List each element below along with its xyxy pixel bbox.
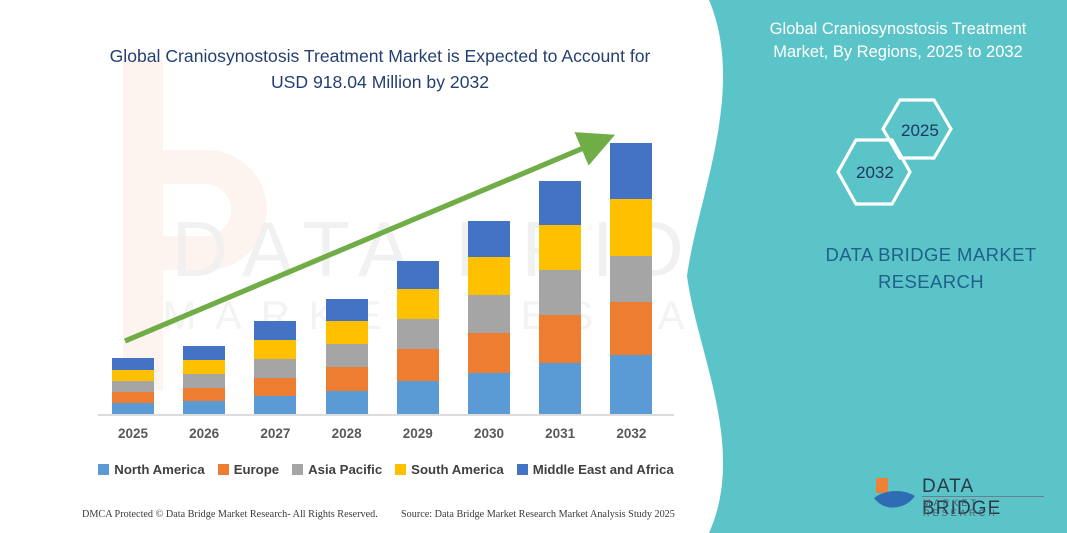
bar-segment-south-america [254, 340, 296, 359]
bar-segment-asia-pacific [539, 270, 581, 315]
bar-segment-north-america [468, 373, 510, 415]
bar-segment-middle-east-and-africa [397, 261, 439, 289]
bar-2030[interactable] [468, 221, 510, 415]
hexagon-group: 2025 2032 [830, 96, 980, 212]
bar-segment-south-america [468, 257, 510, 295]
legend-item-middle-east-and-africa[interactable]: Middle East and Africa [517, 462, 674, 477]
hexagon-2032-label: 2032 [856, 163, 894, 183]
bars-plot [96, 120, 672, 415]
bar-segment-south-america [539, 225, 581, 270]
bar-2025[interactable] [112, 358, 154, 415]
bar-2027[interactable] [254, 321, 296, 415]
x-axis-label-2030: 2030 [459, 426, 519, 441]
bar-segment-europe [610, 302, 652, 355]
bar-segment-asia-pacific [183, 374, 225, 388]
footer-copyright: DMCA Protected © Data Bridge Market Rese… [82, 509, 378, 520]
bar-segment-europe [326, 367, 368, 391]
x-axis-labels: 20252026202720282029203020312032 [96, 426, 676, 448]
x-axis-label-2032: 2032 [601, 426, 661, 441]
bar-segment-south-america [326, 321, 368, 344]
bar-segment-south-america [183, 360, 225, 374]
footer-source: Source: Data Bridge Market Research Mark… [401, 509, 675, 520]
chart-legend: North AmericaEuropeAsia PacificSouth Ame… [96, 458, 676, 480]
bar-segment-europe [112, 392, 154, 403]
bar-2026[interactable] [183, 346, 225, 415]
legend-swatch-icon [218, 464, 229, 475]
bar-segment-europe [539, 315, 581, 363]
bar-segment-europe [254, 378, 296, 396]
bar-segment-middle-east-and-africa [468, 221, 510, 257]
logo-mark-icon [872, 472, 918, 518]
bar-segment-north-america [183, 401, 225, 415]
x-axis-label-2031: 2031 [530, 426, 590, 441]
bar-segment-europe [468, 333, 510, 373]
legend-label: South America [411, 462, 504, 477]
x-axis-label-2029: 2029 [388, 426, 448, 441]
bar-segment-north-america [254, 396, 296, 415]
bar-segment-north-america [397, 381, 439, 415]
x-axis-label-2027: 2027 [245, 426, 305, 441]
bar-segment-asia-pacific [112, 381, 154, 392]
bar-segment-asia-pacific [397, 319, 439, 349]
legend-item-asia-pacific[interactable]: Asia Pacific [292, 462, 382, 477]
bar-segment-middle-east-and-africa [610, 143, 652, 199]
bar-2028[interactable] [326, 299, 368, 415]
legend-item-north-america[interactable]: North America [98, 462, 204, 477]
x-axis-line [98, 414, 674, 416]
panel-brand-line-1: DATA BRIDGE MARKET [825, 244, 1036, 265]
legend-label: Asia Pacific [308, 462, 382, 477]
hexagon-2025-label: 2025 [901, 121, 939, 141]
chart-area: Global Craniosynostosis Treatment Market… [0, 0, 700, 533]
bar-segment-middle-east-and-africa [254, 321, 296, 340]
bar-segment-asia-pacific [326, 344, 368, 367]
bar-segment-north-america [326, 391, 368, 415]
legend-swatch-icon [395, 464, 406, 475]
legend-swatch-icon [98, 464, 109, 475]
bar-segment-middle-east-and-africa [112, 358, 154, 370]
bar-segment-middle-east-and-africa [539, 181, 581, 225]
bar-segment-south-america [610, 199, 652, 256]
chart-title: Global Craniosynostosis Treatment Market… [90, 44, 670, 96]
panel-title: Global Craniosynostosis Treatment Market… [742, 18, 1054, 65]
bar-segment-asia-pacific [254, 359, 296, 378]
bar-segment-middle-east-and-africa [326, 299, 368, 321]
bar-2031[interactable] [539, 181, 581, 415]
legend-label: North America [114, 462, 204, 477]
infographic-canvas: DATA BRIDGE MARKET RESEARCH Global Crani… [0, 0, 1067, 533]
legend-swatch-icon [292, 464, 303, 475]
legend-label: Europe [234, 462, 279, 477]
logo-name-bottom: MARKET RESEARCH [923, 498, 1047, 518]
data-bridge-logo: DATA BRIDGE MARKET RESEARCH [872, 472, 1047, 520]
bar-2032[interactable] [610, 143, 652, 415]
bar-segment-europe [397, 349, 439, 381]
legend-item-south-america[interactable]: South America [395, 462, 504, 477]
logo-divider [922, 496, 1044, 497]
x-axis-label-2028: 2028 [317, 426, 377, 441]
panel-brand-line-2: RESEARCH [878, 271, 984, 292]
x-axis-label-2026: 2026 [174, 426, 234, 441]
legend-swatch-icon [517, 464, 528, 475]
panel-brand-text: DATA BRIDGE MARKET RESEARCH [800, 242, 1062, 296]
bar-segment-south-america [397, 289, 439, 319]
bar-segment-middle-east-and-africa [183, 346, 225, 360]
bar-segment-north-america [610, 355, 652, 415]
bar-segment-asia-pacific [610, 256, 652, 302]
bar-segment-asia-pacific [468, 295, 510, 333]
bar-2029[interactable] [397, 261, 439, 415]
legend-item-europe[interactable]: Europe [218, 462, 279, 477]
bar-segment-europe [183, 388, 225, 401]
legend-label: Middle East and Africa [533, 462, 674, 477]
x-axis-label-2025: 2025 [103, 426, 163, 441]
bar-segment-south-america [112, 370, 154, 381]
bar-segment-north-america [539, 363, 581, 415]
